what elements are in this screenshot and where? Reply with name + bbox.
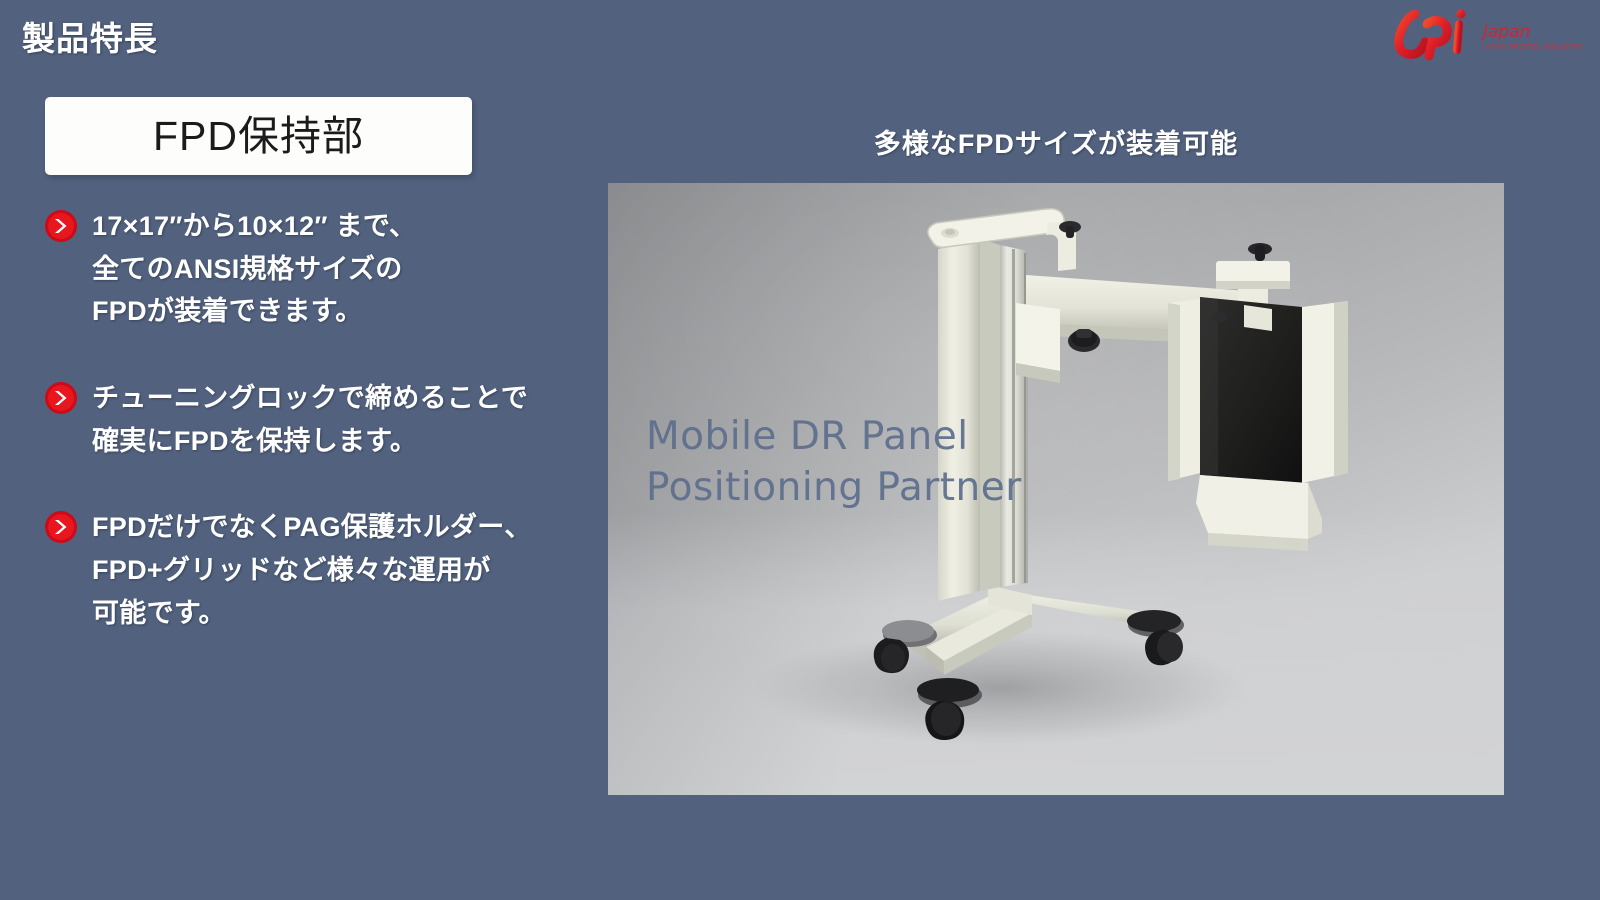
slide-root: 製品特長 Japan JAPAN PROTEC INDUSTRY [0, 0, 1600, 900]
product-photo: Mobile DR Panel Positioning Partner [608, 183, 1504, 795]
chevron-right-circle-icon [44, 381, 78, 415]
feature-bullet-list: 17×17″から10×12″ まで、 全てのANSI規格サイズの FPDが装着で… [44, 205, 604, 634]
list-item: 17×17″から10×12″ まで、 全てのANSI規格サイズの FPDが装着で… [44, 205, 604, 333]
page-title: 製品特長 [22, 12, 158, 60]
section-heading: FPD保持部 [153, 116, 364, 157]
photo-wordmark: Mobile DR Panel Positioning Partner [646, 411, 1022, 514]
svg-text:JAPAN PROTEC INDUSTRY: JAPAN PROTEC INDUSTRY [1482, 43, 1584, 51]
svg-text:Japan: Japan [1480, 22, 1530, 42]
list-item-label: チューニングロックで締めることで 確実にFPDを保持します。 [92, 377, 528, 462]
company-logo: Japan JAPAN PROTEC INDUSTRY [1383, 4, 1593, 62]
list-item: FPDだけでなくPAG保護ホルダー、 FPD+グリッドなど様々な運用が 可能です… [44, 506, 604, 634]
chevron-right-circle-icon [44, 510, 78, 544]
list-item: チューニングロックで締めることで 確実にFPDを保持します。 [44, 377, 604, 462]
list-item-label: 17×17″から10×12″ まで、 全てのANSI規格サイズの FPDが装着で… [92, 205, 416, 333]
photo-caption: 多様なFPDサイズが装着可能 [608, 122, 1504, 161]
chevron-right-circle-icon [44, 209, 78, 243]
section-header-box: FPD保持部 [45, 97, 472, 175]
list-item-label: FPDだけでなくPAG保護ホルダー、 FPD+グリッドなど様々な運用が 可能です… [92, 506, 532, 634]
